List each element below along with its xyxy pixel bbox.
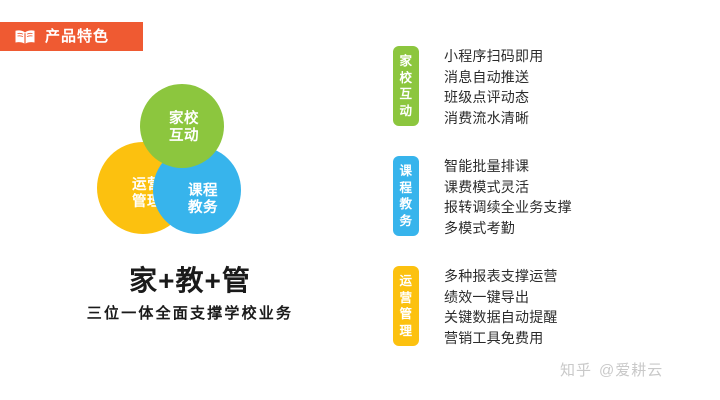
feature-tag-char: 动 [393, 103, 419, 120]
list-item: 营销工具免费用 [444, 328, 558, 349]
venn-label-courses: 课程 教务 [188, 183, 218, 217]
venn-label-courses-line1: 课程 [188, 183, 218, 200]
watermark-account: @爱耕云 [599, 362, 663, 379]
feature-tag-char: 管 [393, 306, 419, 323]
venn-label-courses-line2: 教务 [188, 200, 218, 217]
list-item: 关键数据自动提醒 [444, 307, 558, 328]
feature-group-operations: 运 营 管 理 多种报表支撑运营 绩效一键导出 关键数据自动提醒 营销工具免费用 [393, 266, 558, 348]
feature-list-courses: 智能批量排课 课费模式灵活 报转调续全业务支撑 多模式考勤 [444, 156, 572, 238]
slide-canvas: 产品特色 运营 管理 课程 教务 家校 互动 家+教+管 三位一体全面支撑学校业… [0, 0, 720, 400]
venn-circle-home-school: 家校 互动 [140, 84, 224, 168]
feature-tag-home-school: 家 校 互 动 [393, 46, 419, 126]
feature-group-courses: 课 程 教 务 智能批量排课 课费模式灵活 报转调续全业务支撑 多模式考勤 [393, 156, 572, 238]
list-item: 多种报表支撑运营 [444, 266, 558, 287]
feature-tag-char: 家 [393, 53, 419, 70]
page-title: 产品特色 [45, 29, 109, 44]
feature-list-home-school: 小程序扫码即用 消息自动推送 班级点评动态 消费流水清晰 [444, 46, 543, 128]
tagline-sub: 三位一体全面支撑学校业务 [0, 306, 380, 323]
list-item: 消费流水清晰 [444, 108, 543, 129]
feature-tag-char: 互 [393, 86, 419, 103]
feature-tag-char: 课 [393, 163, 419, 180]
feature-tag-char: 运 [393, 273, 419, 290]
list-item: 多模式考勤 [444, 218, 572, 239]
feature-tag-char: 务 [393, 213, 419, 230]
venn-label-home-school-line1: 家校 [169, 111, 199, 128]
list-item: 消息自动推送 [444, 67, 543, 88]
section-header-banner: 产品特色 [0, 22, 143, 51]
venn-label-home-school: 家校 互动 [169, 111, 199, 145]
list-item: 课费模式灵活 [444, 177, 572, 198]
venn-label-home-school-line2: 互动 [169, 128, 199, 145]
tagline-block: 家+教+管 三位一体全面支撑学校业务 [0, 266, 380, 322]
feature-tag-char: 教 [393, 196, 419, 213]
feature-tag-char: 营 [393, 290, 419, 307]
feature-tag-char: 校 [393, 70, 419, 87]
feature-tag-char: 程 [393, 180, 419, 197]
list-item: 绩效一键导出 [444, 287, 558, 308]
feature-tag-char: 理 [393, 323, 419, 340]
watermark: 知乎@爱耕云 [560, 359, 663, 380]
list-item: 报转调续全业务支撑 [444, 197, 572, 218]
open-book-icon [14, 29, 36, 45]
feature-list-operations: 多种报表支撑运营 绩效一键导出 关键数据自动提醒 营销工具免费用 [444, 266, 558, 348]
list-item: 班级点评动态 [444, 87, 543, 108]
list-item: 小程序扫码即用 [444, 46, 543, 67]
tagline-main: 家+教+管 [0, 266, 380, 297]
list-item: 智能批量排课 [444, 156, 572, 177]
venn-diagram: 运营 管理 课程 教务 家校 互动 [95, 84, 285, 259]
feature-tag-courses: 课 程 教 务 [393, 156, 419, 236]
feature-tag-operations: 运 营 管 理 [393, 266, 419, 346]
feature-group-home-school: 家 校 互 动 小程序扫码即用 消息自动推送 班级点评动态 消费流水清晰 [393, 46, 543, 128]
watermark-site: 知乎 [560, 362, 592, 379]
